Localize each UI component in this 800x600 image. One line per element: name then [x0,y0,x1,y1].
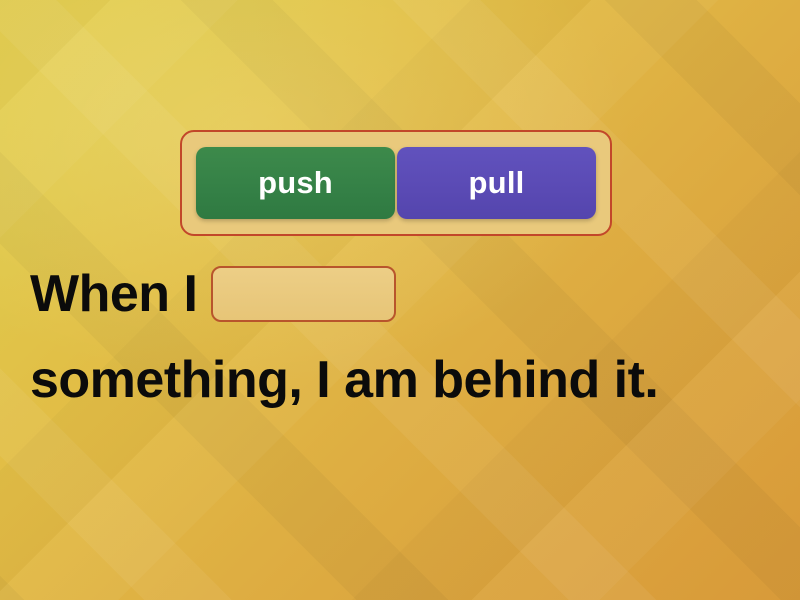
answer-drop-slot[interactable] [211,266,396,322]
word-options-tray: push pull [180,130,612,236]
sentence-line-2: something, I am behind it. [30,334,778,420]
draggable-word-pull[interactable]: pull [397,147,596,219]
draggable-word-push-label: push [258,165,333,201]
draggable-word-push[interactable]: push [196,147,395,219]
activity-stage: push pull When I something, I am behind … [0,0,800,600]
sentence-text-before-blank: When I [30,251,197,337]
sentence-line-1: When I [30,248,778,334]
sentence-text-after-blank: something, I am behind it. [30,337,658,423]
draggable-word-pull-label: pull [469,165,525,201]
sentence-prompt: When I something, I am behind it. [30,248,778,420]
